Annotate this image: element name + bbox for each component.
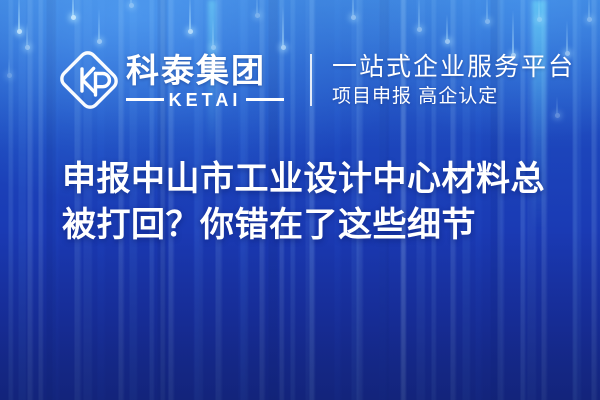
brand-dash-right [246, 98, 284, 101]
page-title: 申报中山市工业设计中心材料总被打回？你错在了这些细节 [62, 156, 562, 248]
tagline-main: 一站式企业服务平台 [332, 52, 575, 82]
brand-name-en-row: KETAI [126, 90, 284, 110]
promo-banner: 科泰集团 KETAI 一站式企业服务平台 项目申报 高企认定 申报中山市工业设计… [0, 0, 600, 400]
brand-name-block: 科泰集团 KETAI [126, 51, 284, 110]
ketai-logo-icon [60, 51, 118, 109]
brand-name-en: KETAI [164, 90, 247, 110]
brand-name-cn: 科泰集团 [126, 53, 284, 89]
header-divider [310, 54, 312, 106]
bottom-shade-overlay [0, 230, 600, 400]
tagline-block: 一站式企业服务平台 项目申报 高企认定 [332, 52, 575, 109]
tagline-sub: 项目申报 高企认定 [332, 85, 575, 109]
brand-header: 科泰集团 KETAI 一站式企业服务平台 项目申报 高企认定 [60, 44, 575, 116]
brand-dash-left [126, 98, 164, 101]
